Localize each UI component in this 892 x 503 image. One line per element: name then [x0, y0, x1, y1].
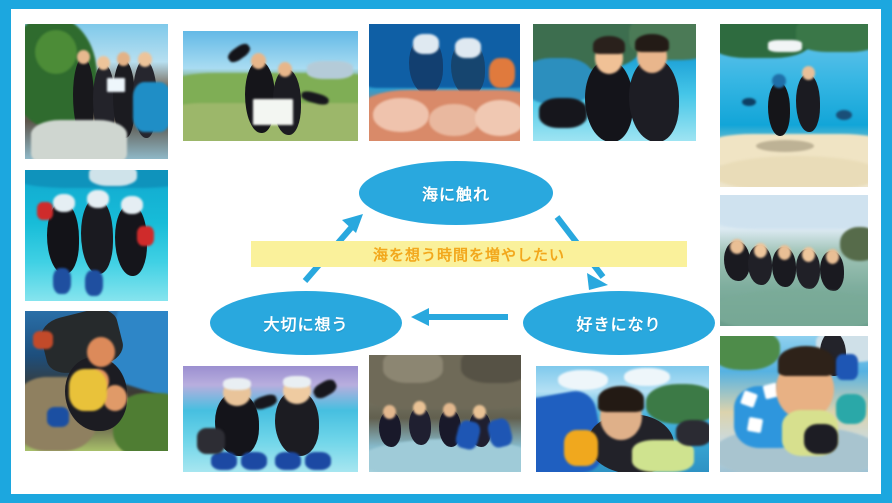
photo-snorkelers-underwater-coral-reef — [369, 24, 520, 141]
photo-two-jumping-on-beach — [720, 24, 868, 187]
arrow-right-to-left — [411, 308, 508, 326]
photo-group-in-sea-cave — [369, 355, 521, 472]
photo-group-wetsuits-cliff-coast — [25, 24, 168, 159]
photo-girl-with-float-smiling — [536, 366, 709, 472]
photo-group-floating-in-sea — [720, 195, 868, 326]
slide-canvas: 海に触れ 好きになり 大切に想う 海を想う時間を増やしたい — [0, 0, 892, 503]
photo-two-divers-boat-smiling — [533, 24, 696, 141]
photo-two-divers-in-water-fins — [183, 366, 358, 472]
photo-divers-on-rocks-from-above — [25, 311, 168, 451]
cycle-node-right[interactable]: 好きになり — [523, 291, 715, 355]
cycle-node-top[interactable]: 海に触れ — [359, 161, 553, 225]
photo-three-snorkelers-blue-pool — [25, 170, 168, 301]
cycle-node-left[interactable]: 大切に想う — [210, 291, 402, 355]
photo-child-life-vest-at-shore — [720, 336, 868, 472]
slide-white-panel: 海に触れ 好きになり 大切に想う 海を想う時間を増やしたい — [11, 9, 881, 494]
photo-couple-certificate-grass-field — [183, 31, 358, 141]
highlight-banner: 海を想う時間を増やしたい — [251, 241, 687, 267]
